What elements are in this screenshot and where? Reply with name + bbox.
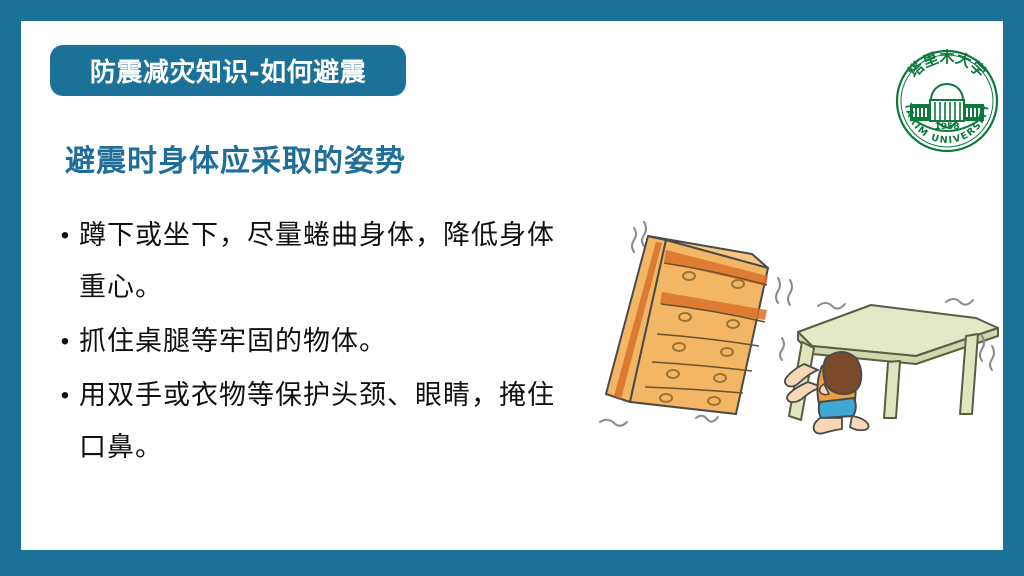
- list-item: • 抓住桌腿等牢固的物体。: [51, 316, 571, 368]
- title-banner-text: 防震减灾知识-如何避震: [90, 52, 366, 89]
- university-seal-icon: 1958 塔里木大学 TARIM UNIVERSITY: [894, 48, 1000, 154]
- toppling-dresser-icon: [606, 236, 768, 414]
- list-item-text: 蹲下或坐下，尽量蜷曲身体，降低身体重心。: [79, 210, 571, 314]
- earthquake-illustration: [586, 206, 1006, 451]
- bullet-marker-icon: •: [51, 370, 79, 422]
- list-item-text: 用双手或衣物等保护头颈、眼睛，掩住口鼻。: [79, 370, 571, 474]
- bullet-list: • 蹲下或坐下，尽量蜷曲身体，降低身体重心。 • 抓住桌腿等牢固的物体。 • 用…: [51, 210, 571, 476]
- bullet-marker-icon: •: [51, 210, 79, 262]
- list-item-text: 抓住桌腿等牢固的物体。: [79, 316, 571, 368]
- bullet-marker-icon: •: [51, 316, 79, 368]
- title-banner: 防震减灾知识-如何避震: [50, 45, 406, 96]
- seal-year: 1958: [934, 122, 959, 132]
- list-item: • 用双手或衣物等保护头颈、眼睛，掩住口鼻。: [51, 370, 571, 474]
- duck-and-cover-scene-icon: [586, 206, 1006, 451]
- slide-canvas: 防震减灾知识-如何避震 避震时身体应采取的姿势 • 蹲下或坐下，尽量蜷曲身体，降…: [21, 21, 1003, 550]
- list-item: • 蹲下或坐下，尽量蜷曲身体，降低身体重心。: [51, 210, 571, 314]
- tarim-university-logo: 1958 塔里木大学 TARIM UNIVERSITY: [894, 48, 1000, 154]
- section-heading: 避震时身体应采取的姿势: [65, 136, 406, 180]
- slide-frame: 防震减灾知识-如何避震 避震时身体应采取的姿势 • 蹲下或坐下，尽量蜷曲身体，降…: [0, 0, 1024, 576]
